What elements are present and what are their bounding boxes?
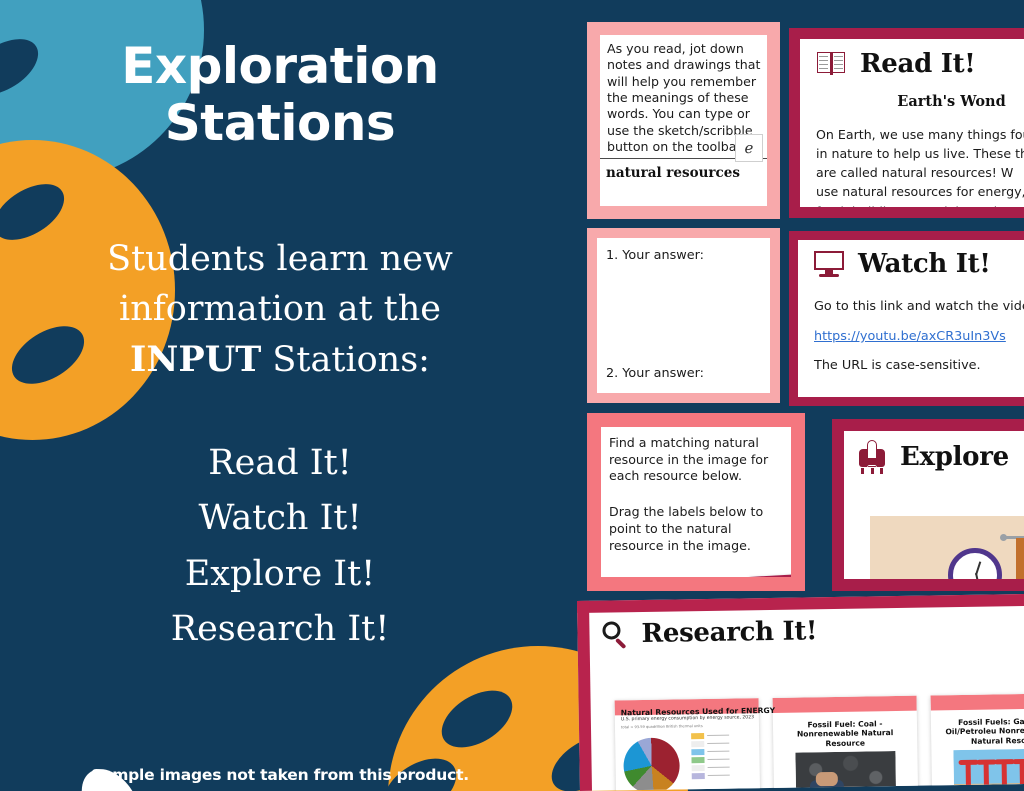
subtitle-emphasis: INPUT [130, 339, 261, 380]
station-item-explore: Explore It! [60, 547, 500, 602]
watch-it-body: Go to this link and watch the vide [814, 299, 1024, 314]
title-line-2: Stations [0, 95, 560, 152]
read-body-line-3: are called natural resources! W [816, 163, 1024, 182]
read-body-line-1: On Earth, we use many things fou [816, 125, 1024, 144]
research-it-title: Research It! [641, 616, 817, 649]
answer-line-2: 2. Your answer: [597, 263, 770, 381]
title-line-1: Exploration [0, 38, 560, 95]
pie-chart-legend [691, 732, 730, 779]
vocab-note-card: As you read, jot down notes and drawings… [587, 22, 780, 219]
explore-it-title: Explore [900, 442, 1009, 472]
watch-it-card: Watch It! Go to this link and watch the … [789, 231, 1024, 406]
match-paragraph-1: Find a matching natural resource in the … [601, 427, 791, 485]
classroom-illustration [870, 516, 1024, 579]
mini-card-energy[interactable]: Natural Resources Used for ENERGY U.S. p… [615, 698, 761, 791]
slide-canvas: Exploration Stations Students learn new … [0, 0, 1024, 791]
station-list: Read It! Watch It! Explore It! Research … [60, 436, 500, 657]
watch-it-title: Watch It! [858, 249, 990, 279]
read-body-line-4: use natural resources for energy, [816, 182, 1024, 201]
answer-line-1: 1. Your answer: [597, 238, 770, 263]
read-it-card: Read It! Earth's Wond On Earth, we use m… [789, 28, 1024, 218]
subtitle-tail: Stations: [272, 340, 430, 380]
magnifier-icon [601, 621, 627, 647]
draggable-label[interactable]: Something that [749, 569, 805, 591]
read-body-line-2: in nature to help us live. These th [816, 144, 1024, 163]
rocket-icon [858, 440, 886, 474]
watch-it-note: The URL is case-sensitive. [814, 358, 1024, 373]
research-it-card: Research It! Natural Resources Used for … [577, 594, 1024, 791]
subtitle-line-3: INPUT Stations: [60, 335, 500, 385]
pie-chart-graphic [623, 737, 680, 791]
station-item-read: Read It! [60, 436, 500, 491]
read-it-title: Read It! [860, 49, 975, 79]
station-item-research: Research It! [60, 602, 500, 657]
read-it-body: On Earth, we use many things fou in natu… [816, 125, 1024, 218]
pie-chart [615, 728, 760, 791]
scribble-icon[interactable]: ℯ [735, 134, 763, 162]
subtitle-line-1: Students learn new [60, 234, 500, 284]
open-book-icon [816, 51, 846, 77]
video-link[interactable]: https://youtu.be/axCR3uIn3Vs [814, 329, 1024, 344]
curtain-graphic [1016, 538, 1024, 591]
subtitle-line-2: information at the [60, 284, 500, 334]
scribble-glyph: ℯ [745, 139, 754, 157]
footnote-disclaimer: Sample images not taken from this produc… [0, 766, 560, 784]
read-it-subtitle: Earth's Wond [854, 93, 1024, 110]
answers-card: 1. Your answer: 2. Your answer: [587, 228, 780, 403]
match-paragraph-2: Drag the labels below to point to the na… [601, 496, 791, 554]
station-item-watch: Watch It! [60, 491, 500, 546]
research-mini-cards: Natural Resources Used for ENERGY U.S. p… [615, 693, 1024, 791]
explore-it-card: Explore [832, 419, 1024, 591]
coal-photo [795, 751, 896, 791]
page-title: Exploration Stations [0, 38, 560, 152]
wall-clock-icon [948, 548, 1002, 591]
match-resources-card: Find a matching natural resource in the … [587, 413, 805, 591]
monitor-icon [814, 251, 844, 278]
left-text-column: Exploration Stations Students learn new … [0, 0, 560, 791]
subtitle-block: Students learn new information at the IN… [60, 234, 500, 385]
oil-rigs-photo [953, 749, 1024, 791]
read-body-line-5: food, building materials, and man [816, 202, 1024, 218]
sample-image-gallery: As you read, jot down notes and drawings… [560, 0, 1024, 791]
draggable-label-text: Something that [754, 574, 805, 591]
